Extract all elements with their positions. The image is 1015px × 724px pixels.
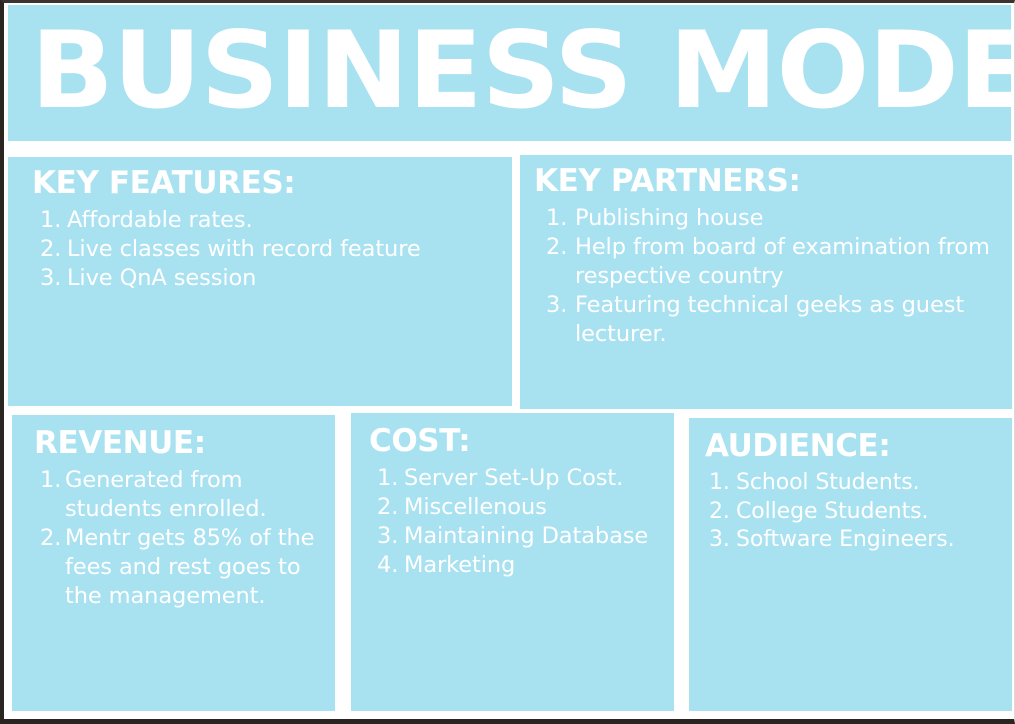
- panel-key-features-list: 1. Affordable rates. 2. Live classes wit…: [32, 206, 498, 292]
- list-item: 1. Generated from students enrolled.: [34, 466, 321, 524]
- panel-key-partners-content: KEY PARTNERS: 1. Publishing house 2. Hel…: [520, 155, 1012, 348]
- list-item-label: School Students.: [736, 469, 998, 497]
- list-item-label: Live QnA session: [67, 264, 498, 293]
- panel-cost-content: COST: 1. Server Set-Up Cost. 2. Miscelle…: [351, 413, 674, 580]
- list-item: 3. Software Engineers.: [705, 526, 998, 554]
- list-item-label: Affordable rates.: [67, 206, 498, 235]
- list-item: 2. Miscellenous: [369, 493, 660, 522]
- list-item-number: 2.: [709, 498, 736, 526]
- list-item-label: Maintaining Database: [404, 522, 660, 551]
- panel-revenue-content: REVENUE: 1. Generated from students enro…: [12, 415, 335, 610]
- list-item: 3. Maintaining Database: [369, 522, 660, 551]
- list-item: 3. Live QnA session: [32, 264, 498, 293]
- list-item: 4. Marketing: [369, 551, 660, 580]
- list-item-label: Live classes with record feature: [67, 235, 498, 264]
- panel-key-features: KEY FEATURES: 1. Affordable rates. 2. Li…: [8, 157, 512, 406]
- list-item: 2. College Students.: [705, 498, 998, 526]
- list-item: 1. Affordable rates.: [32, 206, 498, 235]
- panel-key-partners-list: 1. Publishing house 2. Help from board o…: [534, 204, 998, 348]
- list-item-number: 1.: [40, 206, 67, 235]
- page-title: BUSINESS MODEL: [8, 18, 1011, 124]
- list-item: 2. Mentr gets 85% of the fees and rest g…: [34, 524, 321, 610]
- list-item-number: 2.: [40, 235, 67, 264]
- list-item: 2. Help from board of examination from r…: [534, 233, 998, 291]
- list-item-label: Featuring technical geeks as guest lectu…: [575, 291, 998, 349]
- panel-key-partners-heading: KEY PARTNERS:: [534, 165, 998, 198]
- panel-key-partners: KEY PARTNERS: 1. Publishing house 2. Hel…: [520, 155, 1012, 409]
- list-item-number: 1.: [377, 464, 404, 493]
- list-item-number: 4.: [377, 551, 404, 580]
- list-item-number: 1.: [40, 466, 65, 495]
- list-item-number: 1.: [546, 204, 575, 233]
- list-item-label: Generated from students enrolled.: [65, 466, 321, 524]
- panel-cost-heading: COST:: [369, 425, 660, 458]
- panel-audience-list: 1. School Students. 2. College Students.…: [705, 469, 998, 553]
- list-item-number: 2.: [546, 233, 575, 262]
- list-item-number: 3.: [709, 526, 736, 554]
- panel-audience-content: AUDIENCE: 1. School Students. 2. College…: [689, 418, 1012, 554]
- list-item: 3. Featuring technical geeks as guest le…: [534, 291, 998, 349]
- list-item-label: Miscellenous: [404, 493, 660, 522]
- panel-key-features-content: KEY FEATURES: 1. Affordable rates. 2. Li…: [8, 157, 512, 293]
- list-item-label: Software Engineers.: [736, 526, 998, 554]
- list-item-label: Publishing house: [575, 204, 998, 233]
- panel-audience: AUDIENCE: 1. School Students. 2. College…: [689, 418, 1012, 711]
- list-item-label: Server Set-Up Cost.: [404, 464, 660, 493]
- header-band: BUSINESS MODEL: [8, 5, 1011, 141]
- panel-revenue-heading: REVENUE:: [34, 427, 321, 460]
- business-model-canvas: BUSINESS MODEL KEY FEATURES: 1. Affordab…: [0, 0, 1015, 724]
- panel-key-features-heading: KEY FEATURES:: [32, 167, 498, 200]
- list-item-number: 1.: [709, 469, 736, 497]
- panel-cost-list: 1. Server Set-Up Cost. 2. Miscellenous 3…: [369, 464, 660, 579]
- panel-revenue-list: 1. Generated from students enrolled. 2. …: [34, 466, 321, 610]
- panel-cost: COST: 1. Server Set-Up Cost. 2. Miscelle…: [351, 413, 674, 711]
- list-item-number: 2.: [377, 493, 404, 522]
- list-item-label: College Students.: [736, 498, 998, 526]
- list-item-number: 3.: [377, 522, 404, 551]
- list-item-number: 3.: [40, 264, 67, 293]
- list-item-number: 2.: [40, 524, 65, 553]
- list-item-number: 3.: [546, 291, 575, 320]
- panel-revenue: REVENUE: 1. Generated from students enro…: [12, 415, 335, 711]
- list-item-label: Help from board of examination from resp…: [575, 233, 998, 291]
- list-item-label: Mentr gets 85% of the fees and rest goes…: [65, 524, 321, 610]
- list-item: 1. Publishing house: [534, 204, 998, 233]
- list-item-label: Marketing: [404, 551, 660, 580]
- list-item: 2. Live classes with record feature: [32, 235, 498, 264]
- list-item: 1. School Students.: [705, 469, 998, 497]
- panel-audience-heading: AUDIENCE:: [705, 430, 998, 463]
- list-item: 1. Server Set-Up Cost.: [369, 464, 660, 493]
